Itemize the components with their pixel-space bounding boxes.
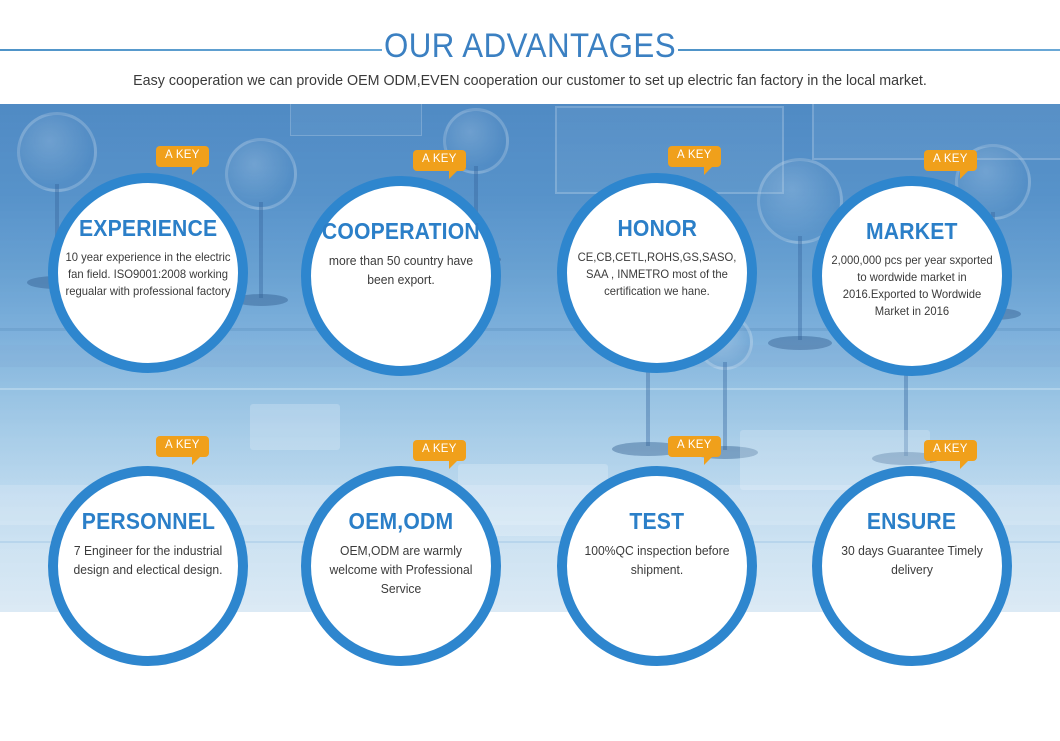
advantage-title: OEM,ODM <box>349 510 454 533</box>
advantage-body: CE,CB,CETL,ROHS,GS,SASO, SAA , INMETRO m… <box>571 249 744 300</box>
a-key-badge: A KEY <box>668 436 721 457</box>
a-key-badge: A KEY <box>156 436 209 457</box>
advantage-title: HONOR <box>617 217 697 240</box>
advantage-circle: ENSURE 30 days Guarantee Timely delivery <box>812 466 1012 666</box>
advantage-circle: COOPERATION more than 50 country have be… <box>301 176 501 376</box>
advantage-title: COOPERATION <box>322 220 480 243</box>
advantage-body: 100%QC inspection before shipment. <box>571 542 744 580</box>
advantage-title: EXPERIENCE <box>79 217 217 240</box>
advantage-title: TEST <box>630 510 685 533</box>
advantage-body: 7 Engineer for the industrial design and… <box>62 542 235 580</box>
advantage-title: MARKET <box>866 220 958 243</box>
advantage-body: 10 year experience in the electric fan f… <box>62 249 235 300</box>
advantage-circle: OEM,ODM OEM,ODM are warmly welcome with … <box>301 466 501 666</box>
advantage-title: ENSURE <box>867 510 956 533</box>
page-title: OUR ADVANTAGES <box>42 27 1017 66</box>
advantage-body: 30 days Guarantee Timely delivery <box>826 542 999 580</box>
advantage-body: 2,000,000 pcs per year sxported to wordw… <box>826 252 999 321</box>
advantage-card-market[interactable]: MARKET 2,000,000 pcs per year sxported t… <box>812 176 1012 376</box>
page-header: OUR ADVANTAGES Easy cooperation we can p… <box>0 0 1060 104</box>
advantage-circle: EXPERIENCE 10 year experience in the ele… <box>48 173 248 373</box>
advantage-circle: HONOR CE,CB,CETL,ROHS,GS,SASO, SAA , INM… <box>557 173 757 373</box>
advantage-card-test[interactable]: TEST 100%QC inspection before shipment. <box>557 466 757 666</box>
advantage-title: PERSONNEL <box>81 510 214 533</box>
advantage-card-experience[interactable]: EXPERIENCE 10 year experience in the ele… <box>48 173 248 373</box>
advantage-card-personnel[interactable]: PERSONNEL 7 Engineer for the industrial … <box>48 466 248 666</box>
a-key-badge: A KEY <box>413 150 466 171</box>
advantage-card-oem-odm[interactable]: OEM,ODM OEM,ODM are warmly welcome with … <box>301 466 501 666</box>
a-key-badge: A KEY <box>156 146 209 167</box>
advantage-circle: MARKET 2,000,000 pcs per year sxported t… <box>812 176 1012 376</box>
a-key-badge: A KEY <box>924 150 977 171</box>
advantages-grid: EXPERIENCE 10 year experience in the ele… <box>0 0 1060 741</box>
advantage-circle: PERSONNEL 7 Engineer for the industrial … <box>48 466 248 666</box>
a-key-badge: A KEY <box>668 146 721 167</box>
advantage-card-cooperation[interactable]: COOPERATION more than 50 country have be… <box>301 176 501 376</box>
advantage-circle: TEST 100%QC inspection before shipment. <box>557 466 757 666</box>
advantages-banner: OUR ADVANTAGES Easy cooperation we can p… <box>0 0 1060 741</box>
page-subtitle: Easy cooperation we can provide OEM ODM,… <box>27 72 1034 89</box>
advantage-card-honor[interactable]: HONOR CE,CB,CETL,ROHS,GS,SASO, SAA , INM… <box>557 173 757 373</box>
advantage-card-ensure[interactable]: ENSURE 30 days Guarantee Timely delivery <box>812 466 1012 666</box>
advantage-body: OEM,ODM are warmly welcome with Professi… <box>315 542 488 599</box>
a-key-badge: A KEY <box>413 440 466 461</box>
advantage-body: more than 50 country have been export. <box>315 252 488 290</box>
a-key-badge: A KEY <box>924 440 977 461</box>
